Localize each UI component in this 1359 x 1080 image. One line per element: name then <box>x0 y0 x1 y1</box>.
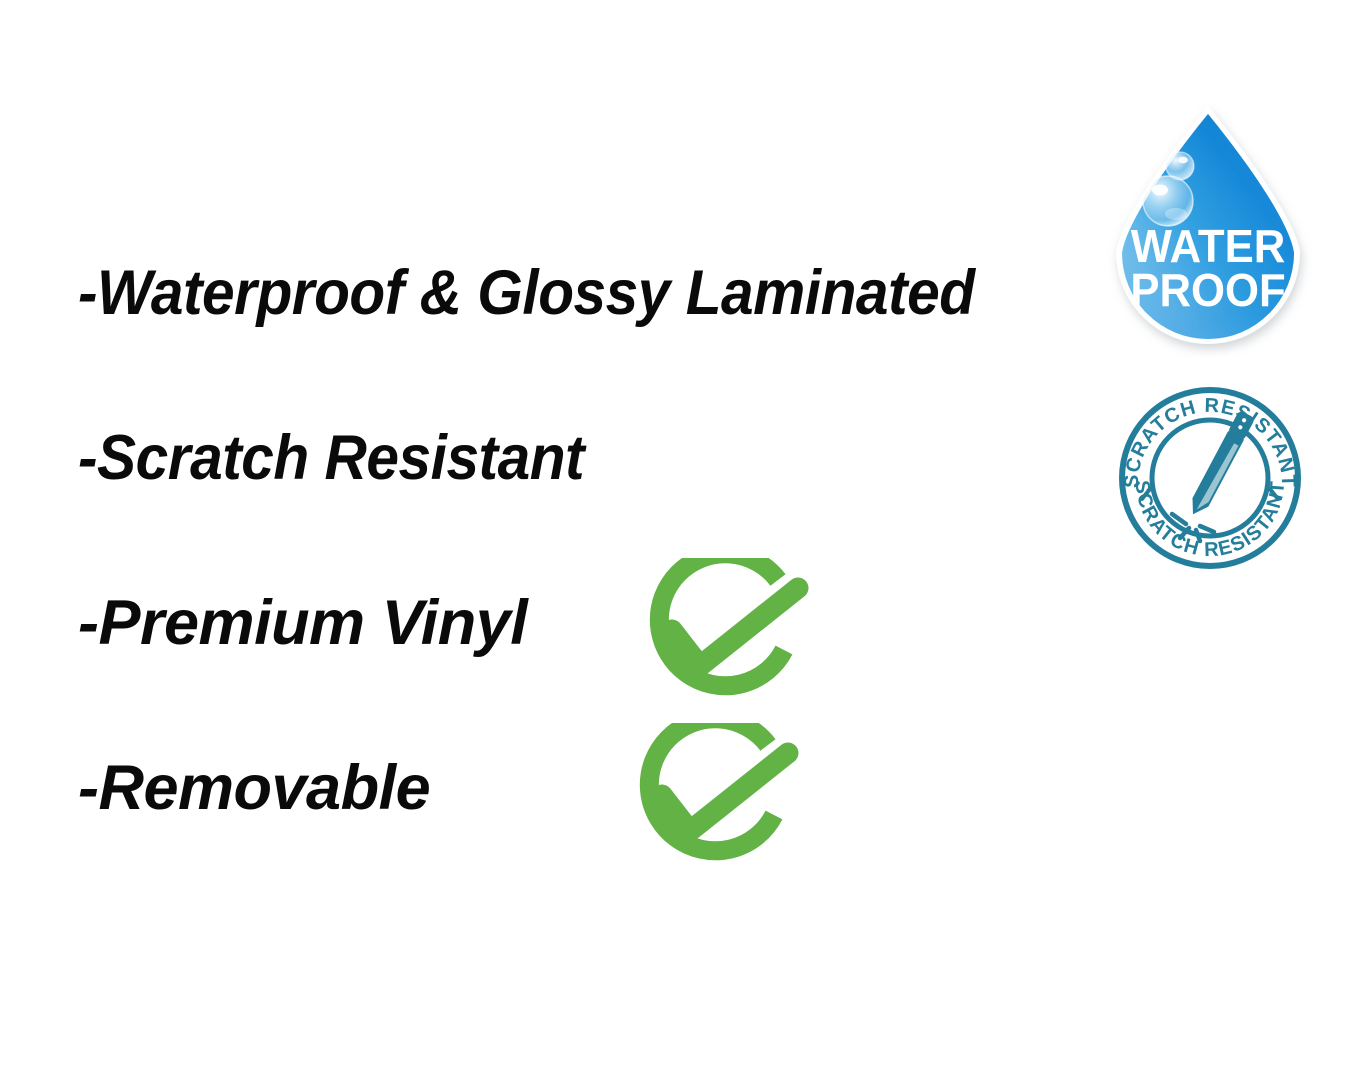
feature-item-waterproof: -Waterproof & Glossy Laminated <box>78 262 975 325</box>
feature-list: -Waterproof & Glossy Laminated -Scratch … <box>0 0 1100 1080</box>
feature-label-waterproof: -Waterproof & Glossy Laminated <box>78 262 975 325</box>
feature-label-scratch-resistant: -Scratch Resistant <box>78 427 584 490</box>
check-circle-1 <box>638 558 833 714</box>
waterproof-line2: PROOF <box>1130 264 1285 316</box>
product-feature-graphic: -Waterproof & Glossy Laminated -Scratch … <box>0 0 1359 1080</box>
check-circle-2 <box>628 723 823 879</box>
feature-item-scratch-resistant: -Scratch Resistant <box>78 427 584 490</box>
feature-label-premium-vinyl: -Premium Vinyl <box>78 592 527 655</box>
scratch-resistant-badge: SCRATCH RESISTANT SCRATCH RESISTANT <box>1112 386 1308 570</box>
knife-icon <box>1186 410 1255 519</box>
feature-item-premium-vinyl: -Premium Vinyl <box>78 592 527 655</box>
feature-label-removable: -Removable <box>78 757 430 820</box>
feature-item-removable: -Removable <box>78 757 430 820</box>
droplet-bubbles <box>1143 152 1194 226</box>
waterproof-badge: WATER PROOF <box>1104 104 1312 358</box>
